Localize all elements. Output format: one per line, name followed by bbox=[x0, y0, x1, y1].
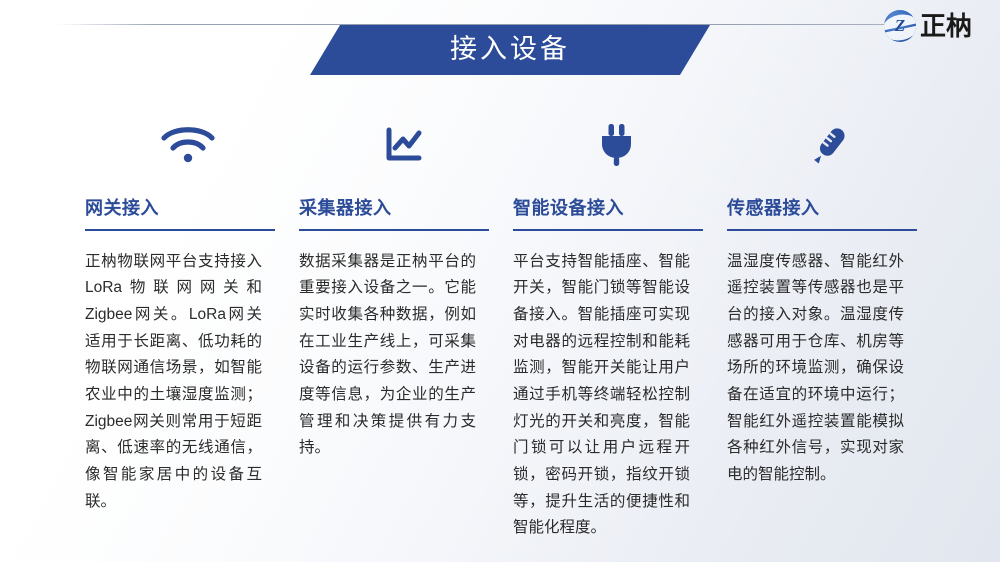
column-underline bbox=[299, 229, 489, 231]
feature-column-collector: 采集器接入 数据采集器是正枘平台的重要接入设备之一。它能实时收集各种数据，例如在… bbox=[299, 118, 504, 542]
feature-column-smart-device: 智能设备接入 平台支持智能插座、智能开关，智能门锁等智能设备接入。智能插座可实现… bbox=[513, 118, 718, 542]
column-heading: 传感器接入 bbox=[727, 198, 932, 220]
column-underline bbox=[513, 229, 703, 231]
logo-letter: Z bbox=[884, 10, 916, 42]
wifi-icon bbox=[85, 118, 290, 172]
logo-circle-icon: Z bbox=[884, 10, 916, 42]
page-title: 接入设备 bbox=[450, 36, 570, 65]
column-heading: 采集器接入 bbox=[299, 198, 504, 220]
brand-logo: Z 正枘 bbox=[884, 10, 972, 42]
logo-wordmark: 正枘 bbox=[920, 13, 972, 39]
column-heading: 智能设备接入 bbox=[513, 198, 718, 220]
line-chart-icon bbox=[299, 118, 504, 172]
slide-title-banner: 接入设备 bbox=[310, 25, 710, 75]
column-body-text: 平台支持智能插座、智能开关，智能门锁等智能设备接入。智能插座可实现对电器的远程控… bbox=[513, 249, 690, 542]
column-body-text: 正枘物联网平台支持接入LoRa物联网网关和Zigbee网关。LoRa网关适用于长… bbox=[85, 249, 262, 516]
slide-canvas: 接入设备 Z 正枘 网关接入 正枘物联网平台支持接入LoRa物联网网关和Zigb… bbox=[0, 0, 1000, 562]
header-divider-line bbox=[56, 24, 901, 25]
column-body-text: 数据采集器是正枘平台的重要接入设备之一。它能实时收集各种数据，例如在工业生产线上… bbox=[299, 249, 476, 462]
thermometer-icon bbox=[727, 118, 932, 172]
feature-column-sensor: 传感器接入 温湿度传感器、智能红外遥控装置等传感器也是平台的接入对象。温湿度传感… bbox=[727, 118, 932, 542]
column-underline bbox=[85, 229, 275, 231]
power-plug-icon bbox=[513, 118, 718, 172]
column-heading: 网关接入 bbox=[85, 198, 290, 220]
column-body-text: 温湿度传感器、智能红外遥控装置等传感器也是平台的接入对象。温湿度传感器可用于仓库… bbox=[727, 249, 904, 489]
feature-columns: 网关接入 正枘物联网平台支持接入LoRa物联网网关和Zigbee网关。LoRa网… bbox=[0, 118, 1000, 542]
column-underline bbox=[727, 229, 917, 231]
feature-column-gateway: 网关接入 正枘物联网平台支持接入LoRa物联网网关和Zigbee网关。LoRa网… bbox=[85, 118, 290, 542]
